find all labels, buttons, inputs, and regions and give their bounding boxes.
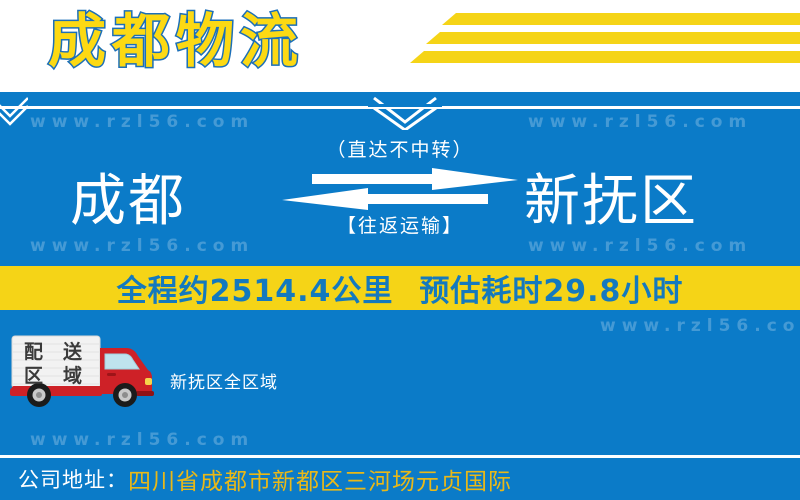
chevron-left-decor-icon xyxy=(0,96,28,130)
stripe-3 xyxy=(410,51,800,63)
stripe-1 xyxy=(442,13,800,25)
logistics-banner: 成都物流 www.rzl56.com www.rzl56.com www.rzl… xyxy=(0,0,800,500)
delivery-area-text: 新抚区全区域 xyxy=(170,368,278,393)
destination-city: 新抚区 xyxy=(524,168,698,236)
footer-label: 公司地址： xyxy=(18,464,128,494)
page-title: 成都物流 xyxy=(48,4,304,78)
delivery-truck-icon xyxy=(8,332,158,408)
footer-address: 四川省成都市新都区三河场元贞国际 xyxy=(128,462,512,496)
watermark: www.rzl56.com xyxy=(30,236,254,256)
info-bar: 全程约2514.4公里 预估耗时29.8小时 xyxy=(0,266,800,310)
route-note-bottom: 【往返运输】 xyxy=(282,214,518,238)
route-note-top: （直达不中转） xyxy=(282,138,518,162)
decorative-stripes xyxy=(410,13,800,69)
watermark: www.rzl56.com xyxy=(600,316,800,336)
stripe-2 xyxy=(426,32,800,44)
watermark: www.rzl56.com xyxy=(30,430,254,450)
watermark: www.rzl56.com xyxy=(30,112,254,132)
double-arrow-icon xyxy=(282,168,518,212)
watermark: www.rzl56.com xyxy=(528,236,752,256)
route-middle: （直达不中转） 【往返运输】 xyxy=(282,138,518,254)
footer-address-bar: 公司地址： 四川省成都市新都区三河场元贞国际 xyxy=(0,458,800,500)
origin-city: 成都 xyxy=(70,168,186,236)
chevron-down-icon xyxy=(368,92,442,130)
distance-text: 全程约2514.4公里 xyxy=(117,266,394,310)
banner-header: 成都物流 xyxy=(0,0,800,92)
duration-text: 预估耗时29.8小时 xyxy=(419,266,683,310)
watermark: www.rzl56.com xyxy=(528,112,752,132)
